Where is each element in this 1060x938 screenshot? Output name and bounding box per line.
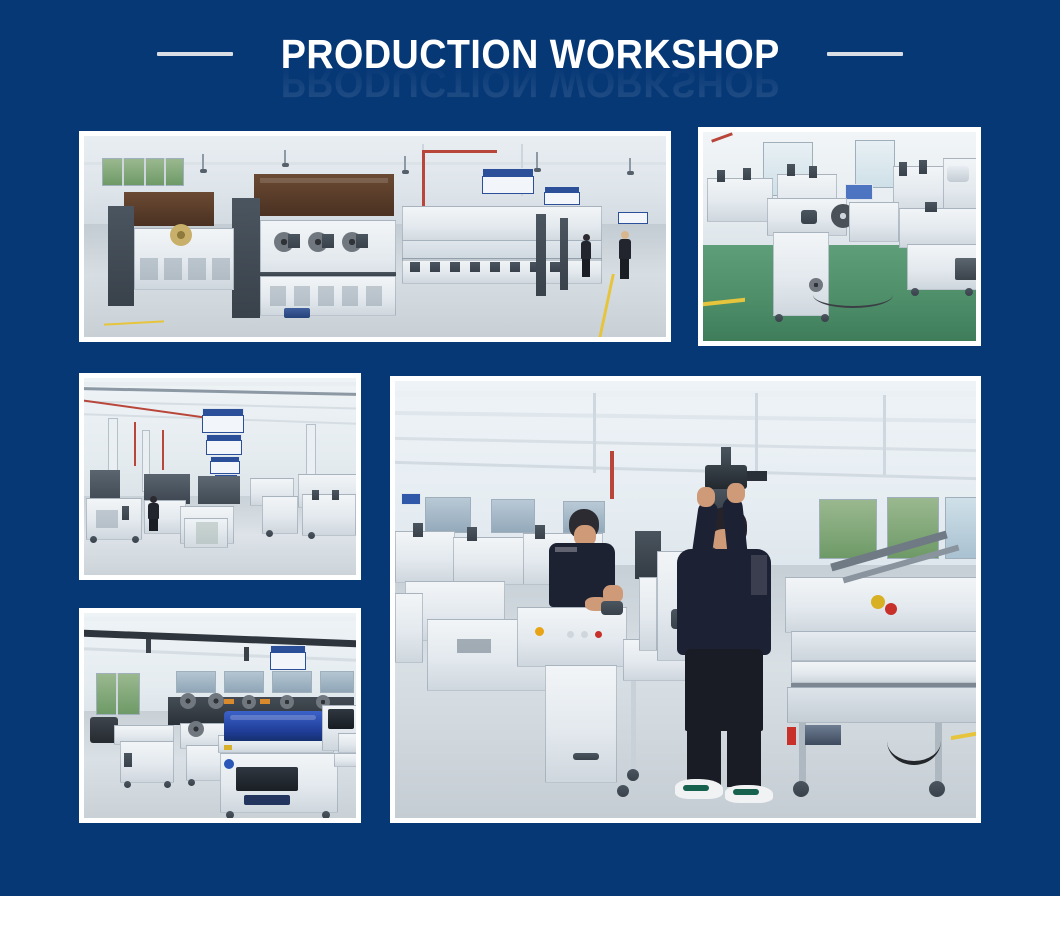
photo-frame-workshop-hall-overview[interactable] <box>79 373 361 580</box>
page-title: PRODUCTION WORKSHOP <box>280 34 779 75</box>
title-rule-right <box>827 52 903 56</box>
photo-wire-harness-production-line <box>84 136 666 337</box>
photo-frame-white-machines-green-floor[interactable] <box>698 127 981 346</box>
page-title-row: PRODUCTION WORKSHOP <box>0 25 1060 83</box>
production-workshop-page: PRODUCTION WORKSHOP PRODUCTION WORKSHOP <box>0 0 1060 938</box>
photo-frame-technicians-assembling-machine[interactable] <box>390 376 981 823</box>
photo-workshop-hall-overview <box>84 378 356 575</box>
title-rule-left <box>157 52 233 56</box>
photo-frame-blue-cover-machine-bo-wang[interactable] <box>79 608 361 823</box>
photo-white-machines-green-floor <box>703 132 976 341</box>
bottom-white-strip <box>0 896 1060 938</box>
photo-frame-wire-harness-production-line[interactable] <box>79 131 671 342</box>
photo-blue-cover-machine-bo-wang <box>84 613 356 818</box>
photo-technicians-assembling-machine <box>395 381 976 818</box>
